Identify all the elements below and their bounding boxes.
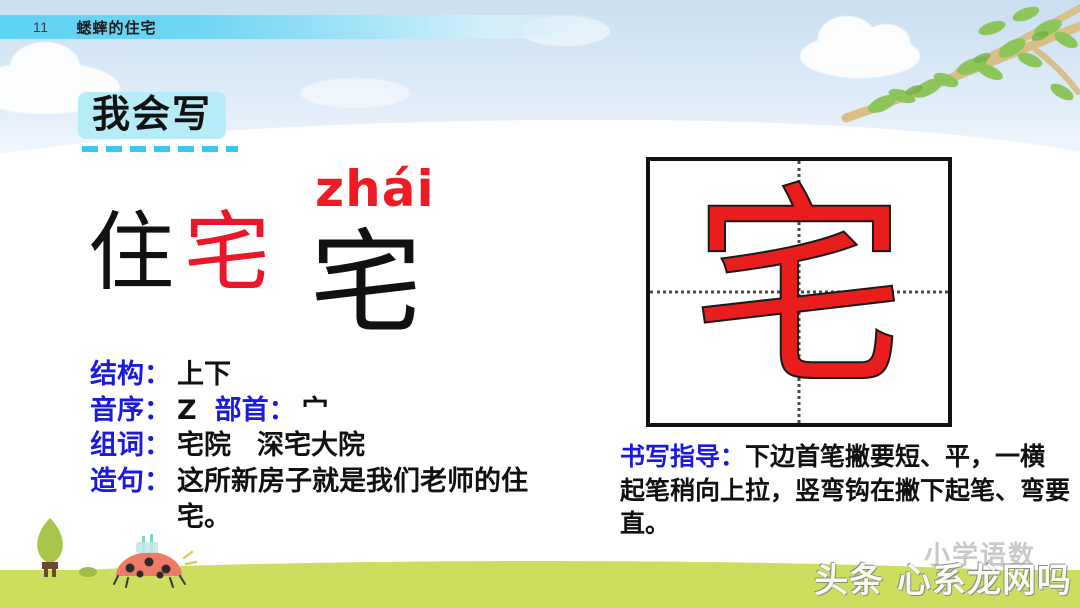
- cloud-icon: [300, 78, 410, 108]
- initial-value: Z: [177, 393, 197, 429]
- info-row-words: 组词： 宅院 深宅大院: [90, 428, 610, 464]
- lesson-title: 蟋蟀的住宅: [77, 17, 157, 38]
- target-character: 宅: [310, 228, 422, 340]
- words-value-first: 宅院: [177, 428, 231, 464]
- vocabulary-word: 住宅: [88, 210, 280, 296]
- grid-character: 宅: [650, 161, 948, 423]
- words-label: 组词：: [90, 428, 171, 464]
- ladybug-icon: [114, 534, 196, 587]
- section-badge: 我会写: [78, 92, 226, 139]
- initial-label: 音序：: [90, 393, 171, 429]
- section-badge-box: 我会写: [78, 92, 226, 139]
- sentence-label: 造句：: [90, 464, 171, 500]
- lesson-number: 11: [33, 19, 49, 35]
- pinyin-label: zhái: [315, 160, 435, 218]
- word-char-second: 宅: [184, 210, 270, 296]
- writing-guide: 书写指导：下边首笔撇要短、平，一横起笔稍向上拉，竖弯钩在撇下起笔、弯要直。: [620, 440, 1070, 541]
- radical-value: 宀: [302, 393, 329, 429]
- tree-icon: [37, 518, 63, 577]
- structure-label: 结构：: [90, 357, 171, 393]
- tree-branch-icon: [840, 0, 1080, 130]
- slide-canvas: 11 蟋蟀的住宅 我会写 住宅 zhái 宅 结构： 上下 音序： Z 部首： …: [0, 0, 1080, 608]
- section-badge-underline: [82, 146, 238, 152]
- word-char-first: 住: [88, 210, 174, 296]
- sentence-value: 这所新房子就是我们老师的住宅。: [177, 464, 567, 535]
- watermark-text: 头条 心系龙网吗: [814, 553, 1072, 602]
- bush-icon: [79, 567, 97, 577]
- writing-guide-label: 书写指导：: [620, 442, 745, 471]
- structure-value: 上下: [177, 357, 231, 393]
- radical-label: 部首：: [215, 393, 296, 429]
- character-info-list: 结构： 上下 音序： Z 部首： 宀 组词： 宅院 深宅大院 造句： 这所新房子…: [90, 357, 610, 535]
- info-row-initial-radical: 音序： Z 部首： 宀: [90, 393, 610, 429]
- words-value-second: 深宅大院: [257, 428, 365, 464]
- info-row-structure: 结构： 上下: [90, 357, 610, 393]
- section-badge-label: 我会写: [92, 92, 212, 136]
- bottom-left-decoration: [18, 512, 228, 592]
- lesson-header-bar: 11 蟋蟀的住宅: [0, 15, 620, 39]
- character-practice-grid: 宅: [646, 157, 952, 427]
